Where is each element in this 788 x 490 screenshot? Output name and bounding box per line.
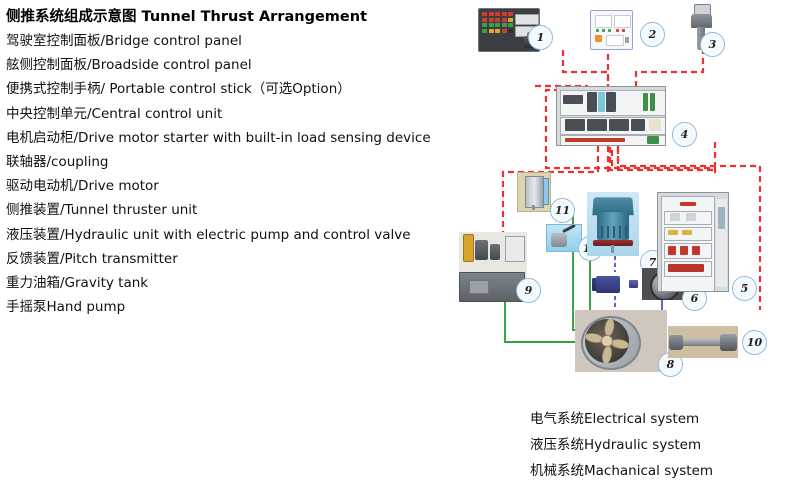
list-item-8: 侧推装置/Tunnel thruster unit bbox=[6, 198, 461, 222]
list-item-4: 中央控制单元/Central control unit bbox=[6, 102, 461, 126]
badge-11: 11 bbox=[550, 198, 575, 223]
list-item-10: 反馈装置/Pitch transmitter bbox=[6, 247, 461, 271]
system-legend: 电气系统Electrical system 液压系统Hydraulic syst… bbox=[452, 404, 782, 482]
list-item-12: 手摇泵Hand pump bbox=[6, 295, 461, 319]
legend-label-mechanical: 机械系统Machanical system bbox=[530, 459, 713, 479]
pitch-transmitter[interactable] bbox=[668, 326, 738, 358]
system-diagram: 1 2 3 4 11 bbox=[460, 0, 788, 400]
list-item-3: 便携式控制手柄/ Portable control stick（可选Option… bbox=[6, 77, 461, 101]
badge-10: 10 bbox=[742, 330, 767, 355]
legend-label-hydraulic: 液压系统Hydraulic system bbox=[530, 433, 701, 453]
badge-5: 5 bbox=[732, 276, 757, 301]
list-item-1: 驾驶室控制面板/Bridge control panel bbox=[6, 29, 461, 53]
badge-3: 3 bbox=[700, 32, 725, 57]
hand-pump[interactable] bbox=[546, 224, 582, 252]
legend-row-electrical: 电气系统Electrical system bbox=[452, 404, 782, 430]
badge-4: 4 bbox=[672, 122, 697, 147]
list-item-5: 电机启动柜/Drive motor starter with built-in … bbox=[6, 126, 461, 150]
gravity-tank[interactable] bbox=[517, 172, 551, 212]
page-title: 侧推系统组成示意图 Tunnel Thrust Arrangement bbox=[6, 6, 461, 29]
list-item-7: 驱动电动机/Drive motor bbox=[6, 174, 461, 198]
tunnel-thruster-unit[interactable] bbox=[575, 310, 667, 372]
drive-motor[interactable] bbox=[587, 192, 639, 256]
drive-motor-starter[interactable] bbox=[657, 192, 729, 292]
list-item-11: 重力油箱/Gravity tank bbox=[6, 271, 461, 295]
legend-label-electrical: 电气系统Electrical system bbox=[530, 407, 699, 427]
list-item-6: 联轴器/coupling bbox=[6, 150, 461, 174]
broadside-control-panel[interactable] bbox=[590, 10, 633, 50]
badge-2: 2 bbox=[640, 22, 665, 47]
motor-unit[interactable] bbox=[592, 272, 638, 298]
badge-1: 1 bbox=[528, 25, 553, 50]
legend-row-mechanical: 机械系统Machanical system bbox=[452, 456, 782, 482]
component-list: 侧推系统组成示意图 Tunnel Thrust Arrangement 驾驶室控… bbox=[6, 6, 461, 319]
central-control-unit[interactable] bbox=[556, 86, 666, 146]
propeller-blades bbox=[585, 319, 629, 363]
list-item-2: 舷侧控制面板/Broadside control panel bbox=[6, 53, 461, 77]
badge-9: 9 bbox=[516, 278, 541, 303]
list-item-9: 液压装置/Hydraulic unit with electric pump a… bbox=[6, 223, 461, 247]
legend-row-hydraulic: 液压系统Hydraulic system bbox=[452, 430, 782, 456]
